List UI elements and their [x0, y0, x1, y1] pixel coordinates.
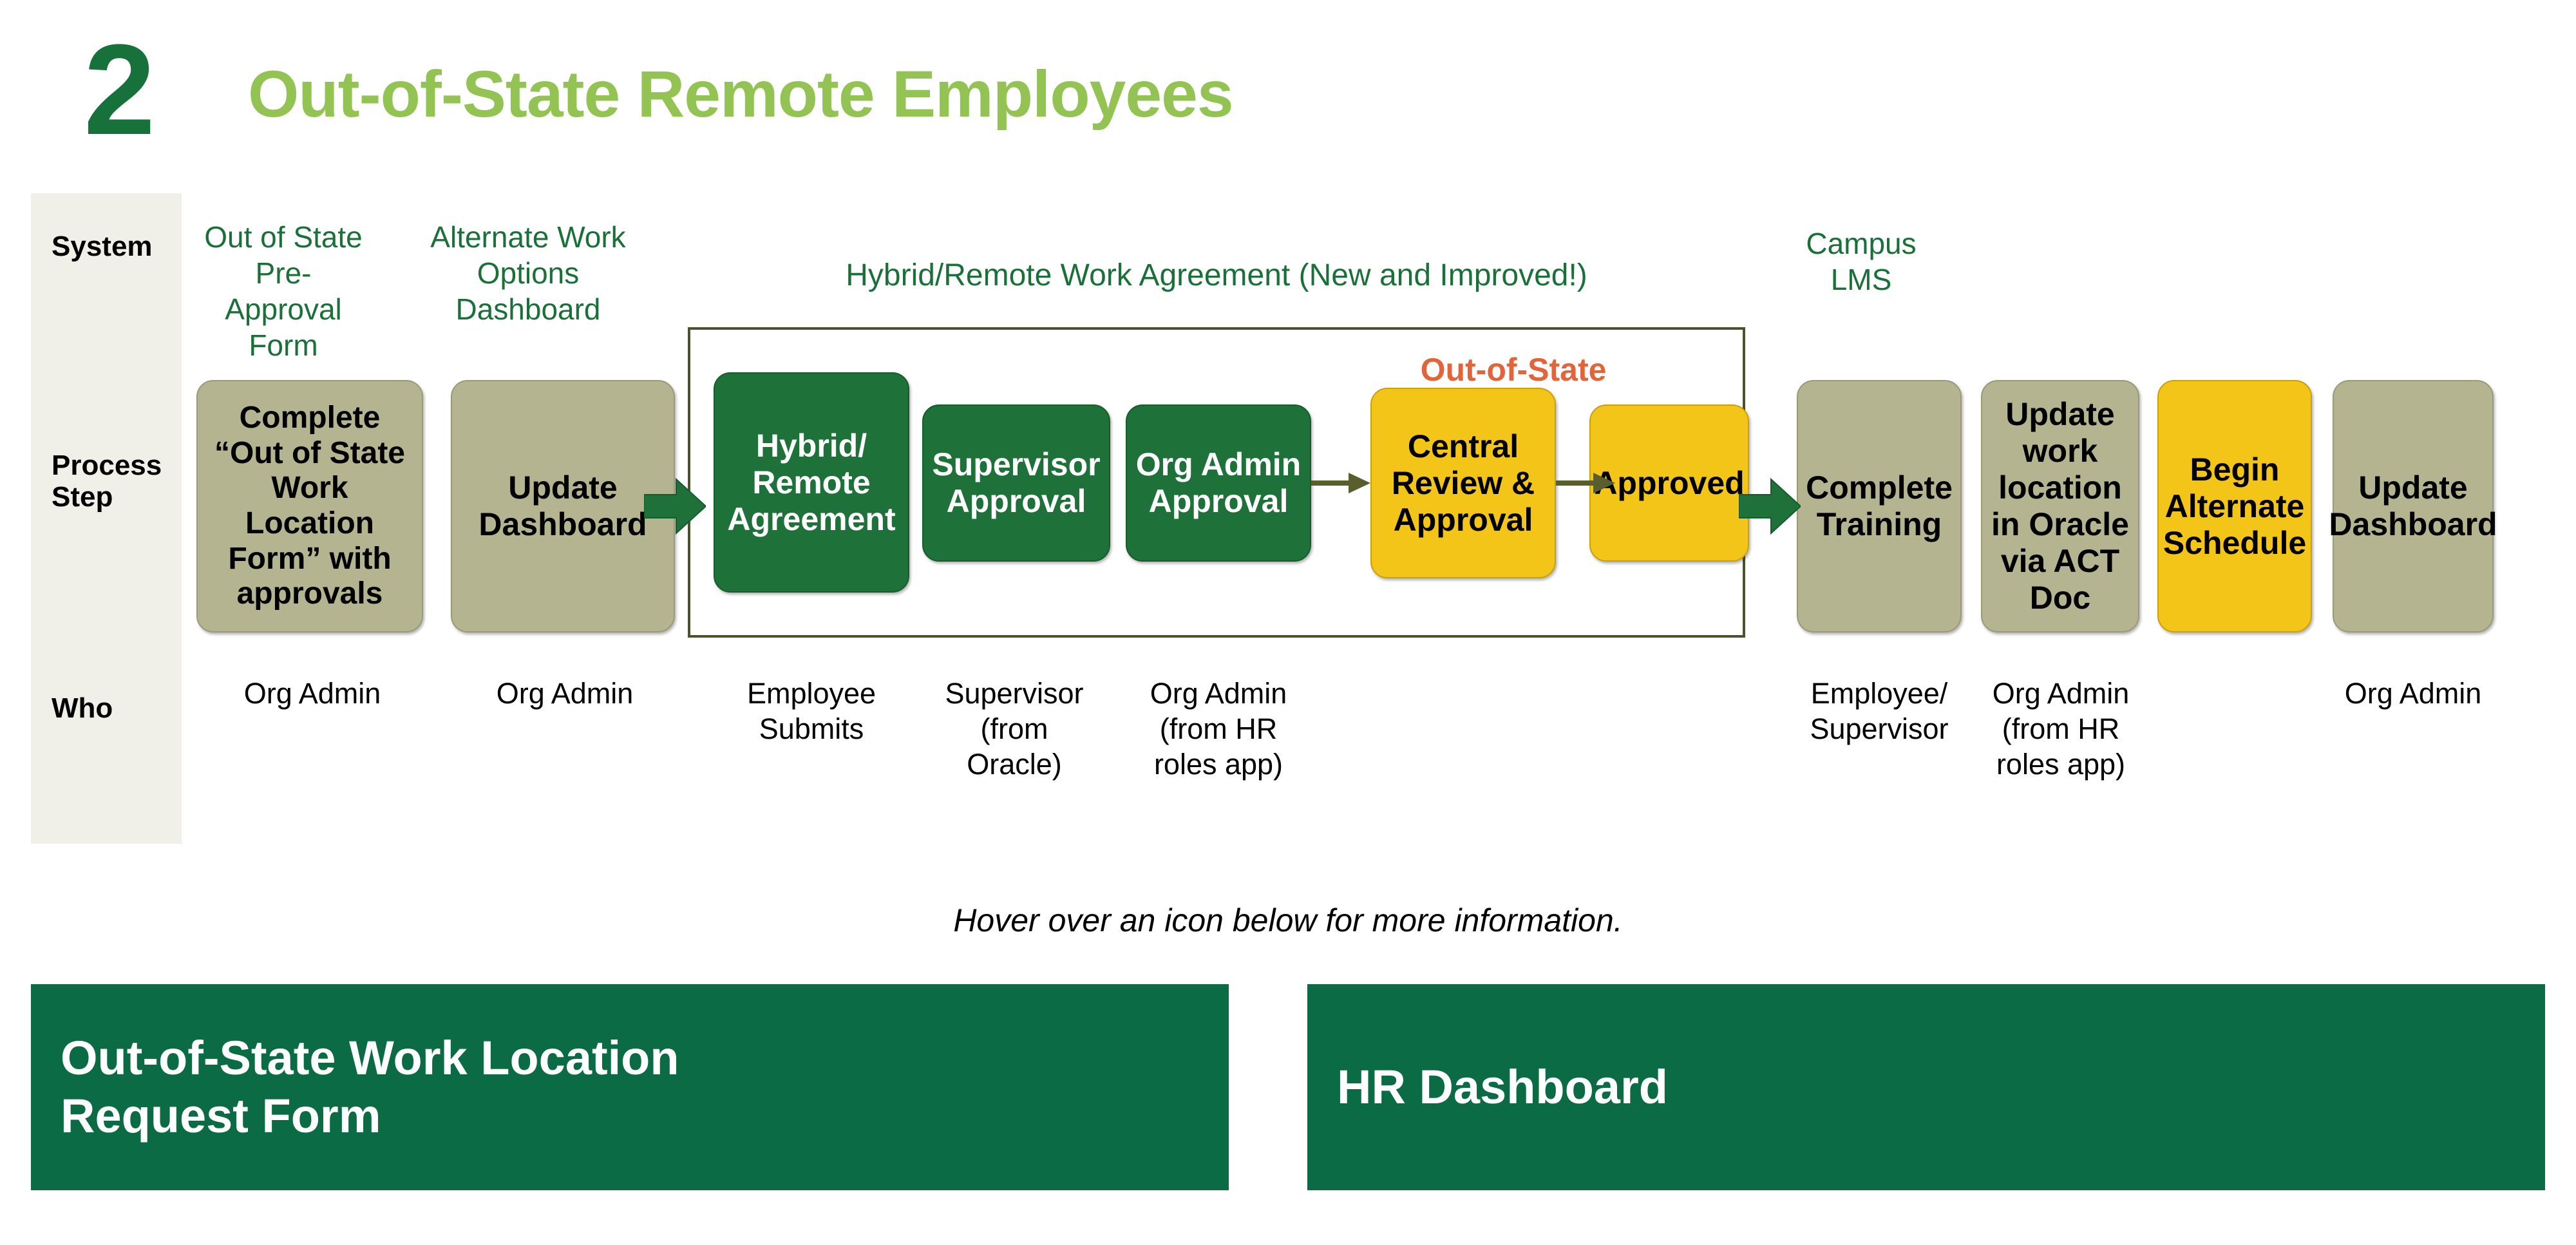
hover-hint-text: Hover over an icon below for more inform… [0, 902, 2576, 939]
who-label-line: Oracle) [908, 747, 1121, 783]
system-label-line: Form [200, 327, 367, 363]
process-box-complete-training[interactable]: Complete Training [1797, 380, 1962, 632]
process-box-org-admin-approval[interactable]: Org Admin Approval [1126, 404, 1311, 562]
arrow-to-agreement-group [644, 477, 706, 536]
system-label-out-of-state-pre-approval-form: Out of State Pre-Approval Form [200, 219, 367, 363]
process-box-begin-alternate-schedule[interactable]: Begin Alternate Schedule [2157, 380, 2312, 632]
who-label-line: Org Admin [1115, 676, 1321, 712]
arrow-central-to-approved [1556, 470, 1615, 496]
out-of-state-work-location-request-form-button[interactable]: Out-of-State Work Location Request Form [31, 984, 1229, 1190]
who-label-hybrid-remote-agreement: Employee Submits [702, 676, 921, 747]
system-label-line: LMS [1777, 261, 1945, 298]
out-of-state-tag: Out-of-State [1397, 351, 1629, 388]
system-label-campus-lms: Campus LMS [1777, 225, 1945, 298]
who-label-line: (from [908, 712, 1121, 747]
system-label-line: Campus [1777, 225, 1945, 261]
who-label-update-dashboard-1: Org Admin [459, 676, 671, 712]
who-label-update-work-location-oracle: Org Admin (from HR roles app) [1971, 676, 2151, 783]
who-label-line: Org Admin [1971, 676, 2151, 712]
who-label-line: (from HR [1971, 712, 2151, 747]
system-label-line: Out of State [200, 219, 367, 255]
who-label-line: roles app) [1115, 747, 1321, 783]
arrow-orgadmin-to-central [1311, 470, 1370, 496]
agreement-group-title: Hybrid/Remote Work Agreement (New and Im… [688, 258, 1745, 293]
who-label-supervisor-approval: Supervisor (from Oracle) [908, 676, 1121, 783]
who-label-complete-out-of-state-form: Org Admin [206, 676, 419, 712]
who-label-line: Supervisor [1783, 712, 1976, 747]
who-label-line: Supervisor [908, 676, 1121, 712]
who-label-org-admin-approval: Org Admin (from HR roles app) [1115, 676, 1321, 783]
hr-dashboard-button[interactable]: HR Dashboard [1307, 984, 2545, 1190]
process-box-central-review-approval[interactable]: Central Review & Approval [1370, 388, 1556, 578]
who-label-line: roles app) [1971, 747, 2151, 783]
process-box-hybrid-remote-agreement[interactable]: Hybrid/ Remote Agreement [714, 372, 909, 593]
process-box-update-dashboard-1[interactable]: Update Dashboard [451, 380, 675, 632]
process-box-update-work-location-oracle[interactable]: Update work location in Oracle via ACT D… [1981, 380, 2139, 632]
who-label-update-dashboard-2: Org Admin [2326, 676, 2500, 712]
arrow-to-complete-training [1739, 477, 1801, 536]
process-box-supervisor-approval[interactable]: Supervisor Approval [922, 404, 1110, 562]
who-label-line: Employee/ [1783, 676, 1976, 712]
system-label-line: Dashboard [422, 291, 634, 327]
system-label-line: Alternate Work [422, 219, 634, 255]
who-label-line: (from HR [1115, 712, 1321, 747]
bar-label-line1: Out-of-State Work Location [61, 1029, 679, 1087]
system-label-line: Pre-Approval [200, 255, 367, 327]
system-label-alternate-work-options-dashboard: Alternate Work Options Dashboard [422, 219, 634, 327]
process-box-update-dashboard-2[interactable]: Update Dashboard [2333, 380, 2494, 632]
bar-label-line2: Request Form [61, 1087, 679, 1145]
who-label-complete-training: Employee/ Supervisor [1783, 676, 1976, 747]
who-label-line: Employee [702, 676, 921, 712]
system-label-line: Options [422, 255, 634, 291]
bar-label-line1: HR Dashboard [1337, 1058, 1668, 1116]
who-label-line: Submits [702, 712, 921, 747]
process-box-complete-out-of-state-form[interactable]: Complete “Out of State Work Location For… [196, 380, 423, 632]
